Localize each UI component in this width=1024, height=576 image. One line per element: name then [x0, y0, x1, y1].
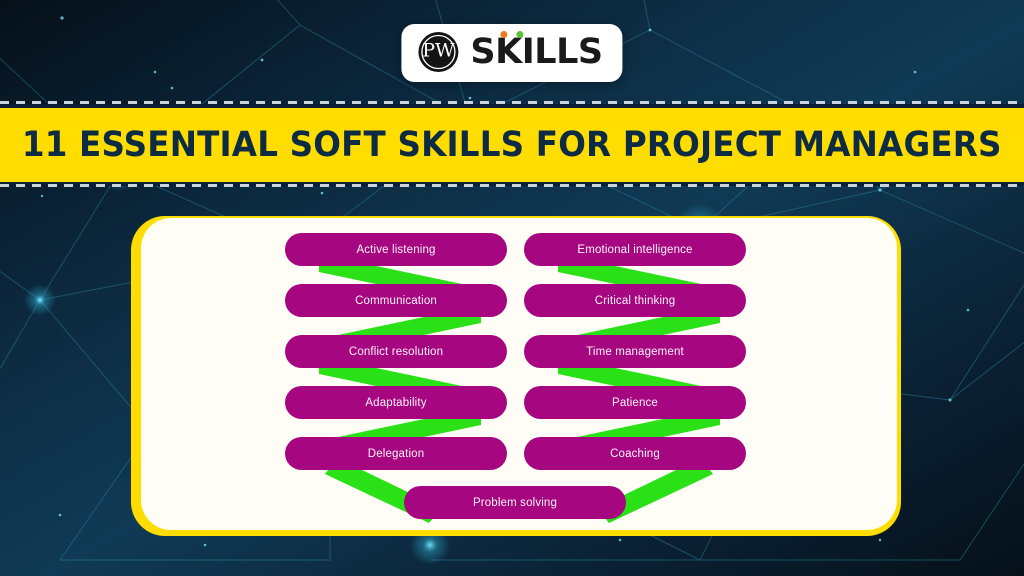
skill-pill-conflict-resolution[interactable]: Conflict resolution [285, 335, 507, 368]
brand-wordmark: SKILLS [470, 35, 602, 70]
skill-label: Time management [586, 346, 684, 358]
logo-dot-orange [500, 31, 507, 38]
title-banner: 11 ESSENTIAL SOFT SKILLS FOR PROJECT MAN… [0, 108, 1024, 182]
skill-label: Coaching [610, 448, 660, 460]
content-card: Active listening Communication Conflict … [141, 218, 897, 530]
skill-pill-active-listening[interactable]: Active listening [285, 233, 507, 266]
skill-pill-adaptability[interactable]: Adaptability [285, 386, 507, 419]
skill-label: Patience [612, 397, 658, 409]
connector-bands [141, 218, 897, 530]
skill-label: Critical thinking [595, 295, 676, 307]
svg-text:PW: PW [422, 40, 455, 62]
skill-label: Delegation [368, 448, 424, 460]
logo-dot-green [516, 31, 523, 38]
brand-wordmark-text: SKILLS [470, 32, 602, 72]
skill-label: Emotional intelligence [577, 244, 692, 256]
skill-pill-critical-thinking[interactable]: Critical thinking [524, 284, 746, 317]
skill-label: Adaptability [365, 397, 426, 409]
pw-monogram-icon: PW [417, 31, 459, 73]
skill-pill-coaching[interactable]: Coaching [524, 437, 746, 470]
skill-label: Communication [355, 295, 437, 307]
brand-logo[interactable]: PW SKILLS [401, 24, 622, 82]
dashed-divider-bottom [0, 184, 1024, 187]
skill-pill-problem-solving[interactable]: Problem solving [404, 486, 626, 519]
skill-label: Active listening [356, 244, 435, 256]
skill-pill-time-management[interactable]: Time management [524, 335, 746, 368]
dashed-divider-top [0, 101, 1024, 104]
skill-pill-emotional-intelligence[interactable]: Emotional intelligence [524, 233, 746, 266]
skill-label: Problem solving [473, 497, 557, 509]
infographic-canvas: PW SKILLS 11 ESSENTIAL SOFT SKILLS FOR P… [0, 0, 1024, 576]
skill-label: Conflict resolution [349, 346, 443, 358]
skill-pill-delegation[interactable]: Delegation [285, 437, 507, 470]
page-title: 11 ESSENTIAL SOFT SKILLS FOR PROJECT MAN… [22, 125, 1002, 165]
skill-pill-patience[interactable]: Patience [524, 386, 746, 419]
skill-pill-communication[interactable]: Communication [285, 284, 507, 317]
